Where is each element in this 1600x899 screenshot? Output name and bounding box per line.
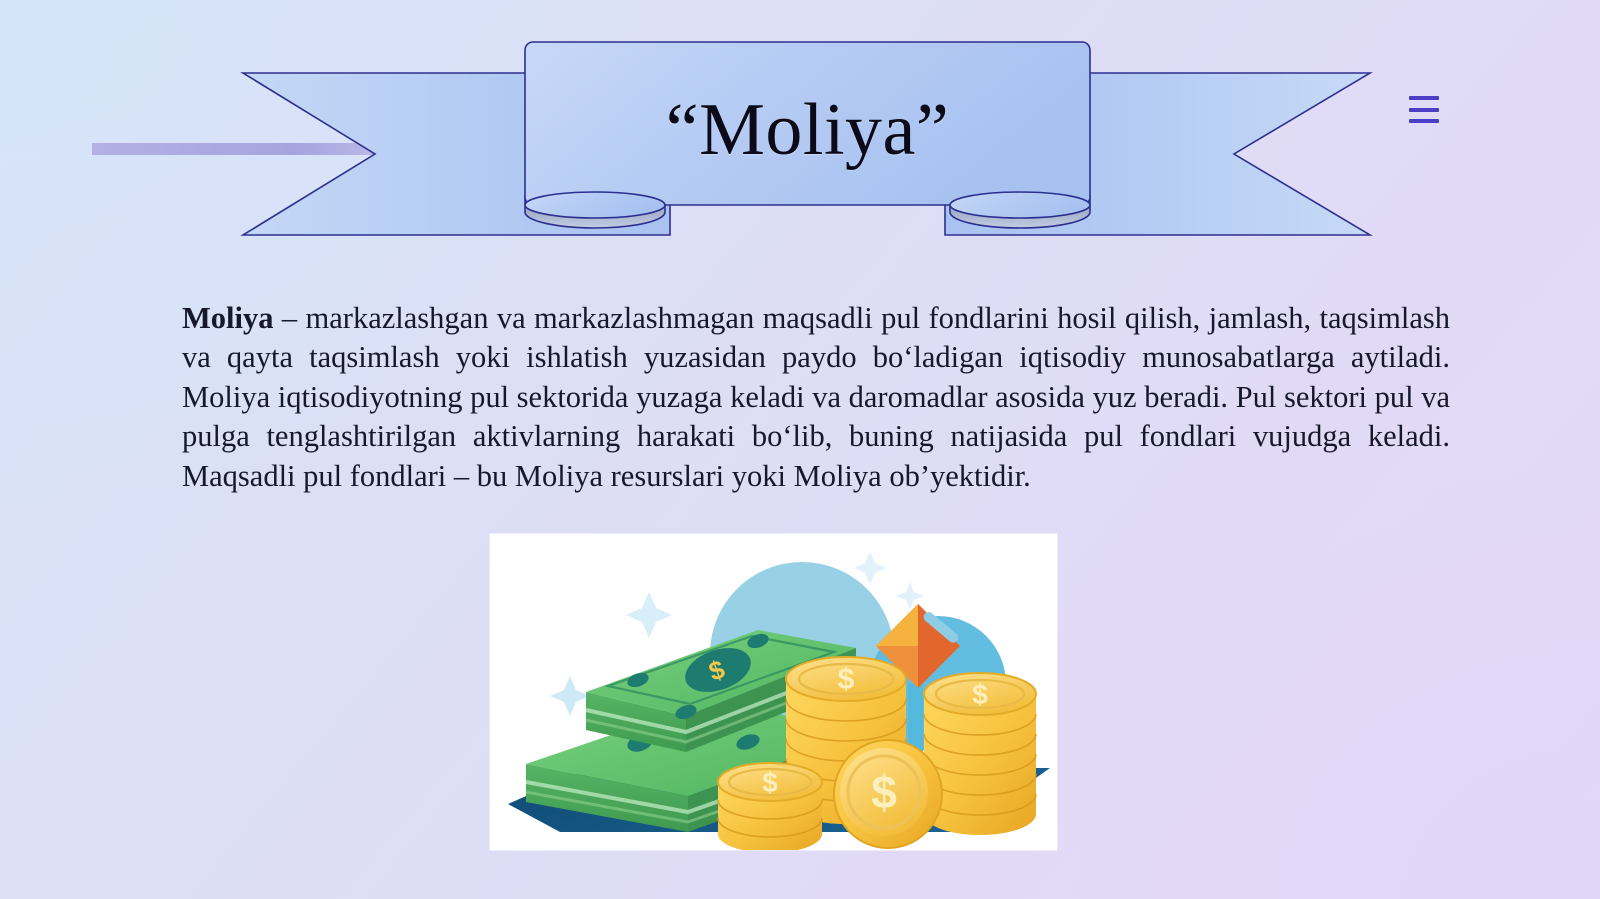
money-illustration: $ $ [490,534,1057,850]
hamburger-bar-3 [1409,119,1439,123]
ribbon-fold-left-cap [525,192,665,218]
lead-term: Moliya [182,301,274,335]
hamburger-bar-2 [1409,108,1439,112]
ribbon-fold-right-cap [950,192,1090,218]
ribbon-tail-line [92,143,382,155]
coin-standing-front: $ [834,740,942,848]
hamburger-menu-icon[interactable] [1409,96,1439,123]
svg-text:$: $ [838,663,855,696]
definition-paragraph: Moliya – markazlashgan va markazlashmaga… [182,299,1450,497]
coin-stack-front-left: $ [718,763,822,850]
hamburger-bar-1 [1409,96,1439,100]
ribbon-center-panel [525,42,1090,205]
svg-text:$: $ [762,767,778,798]
slide-canvas: “Moliya” Moliya – markazlashgan va marka… [0,0,1600,899]
banner: “Moliya” [0,0,1600,270]
svg-text:$: $ [871,766,897,818]
paragraph-body: – markazlashgan va markazlashmagan maqsa… [182,301,1450,493]
ribbon-graphic [0,0,1600,270]
coin-stack-right: $ [924,673,1036,835]
svg-text:$: $ [972,679,988,710]
